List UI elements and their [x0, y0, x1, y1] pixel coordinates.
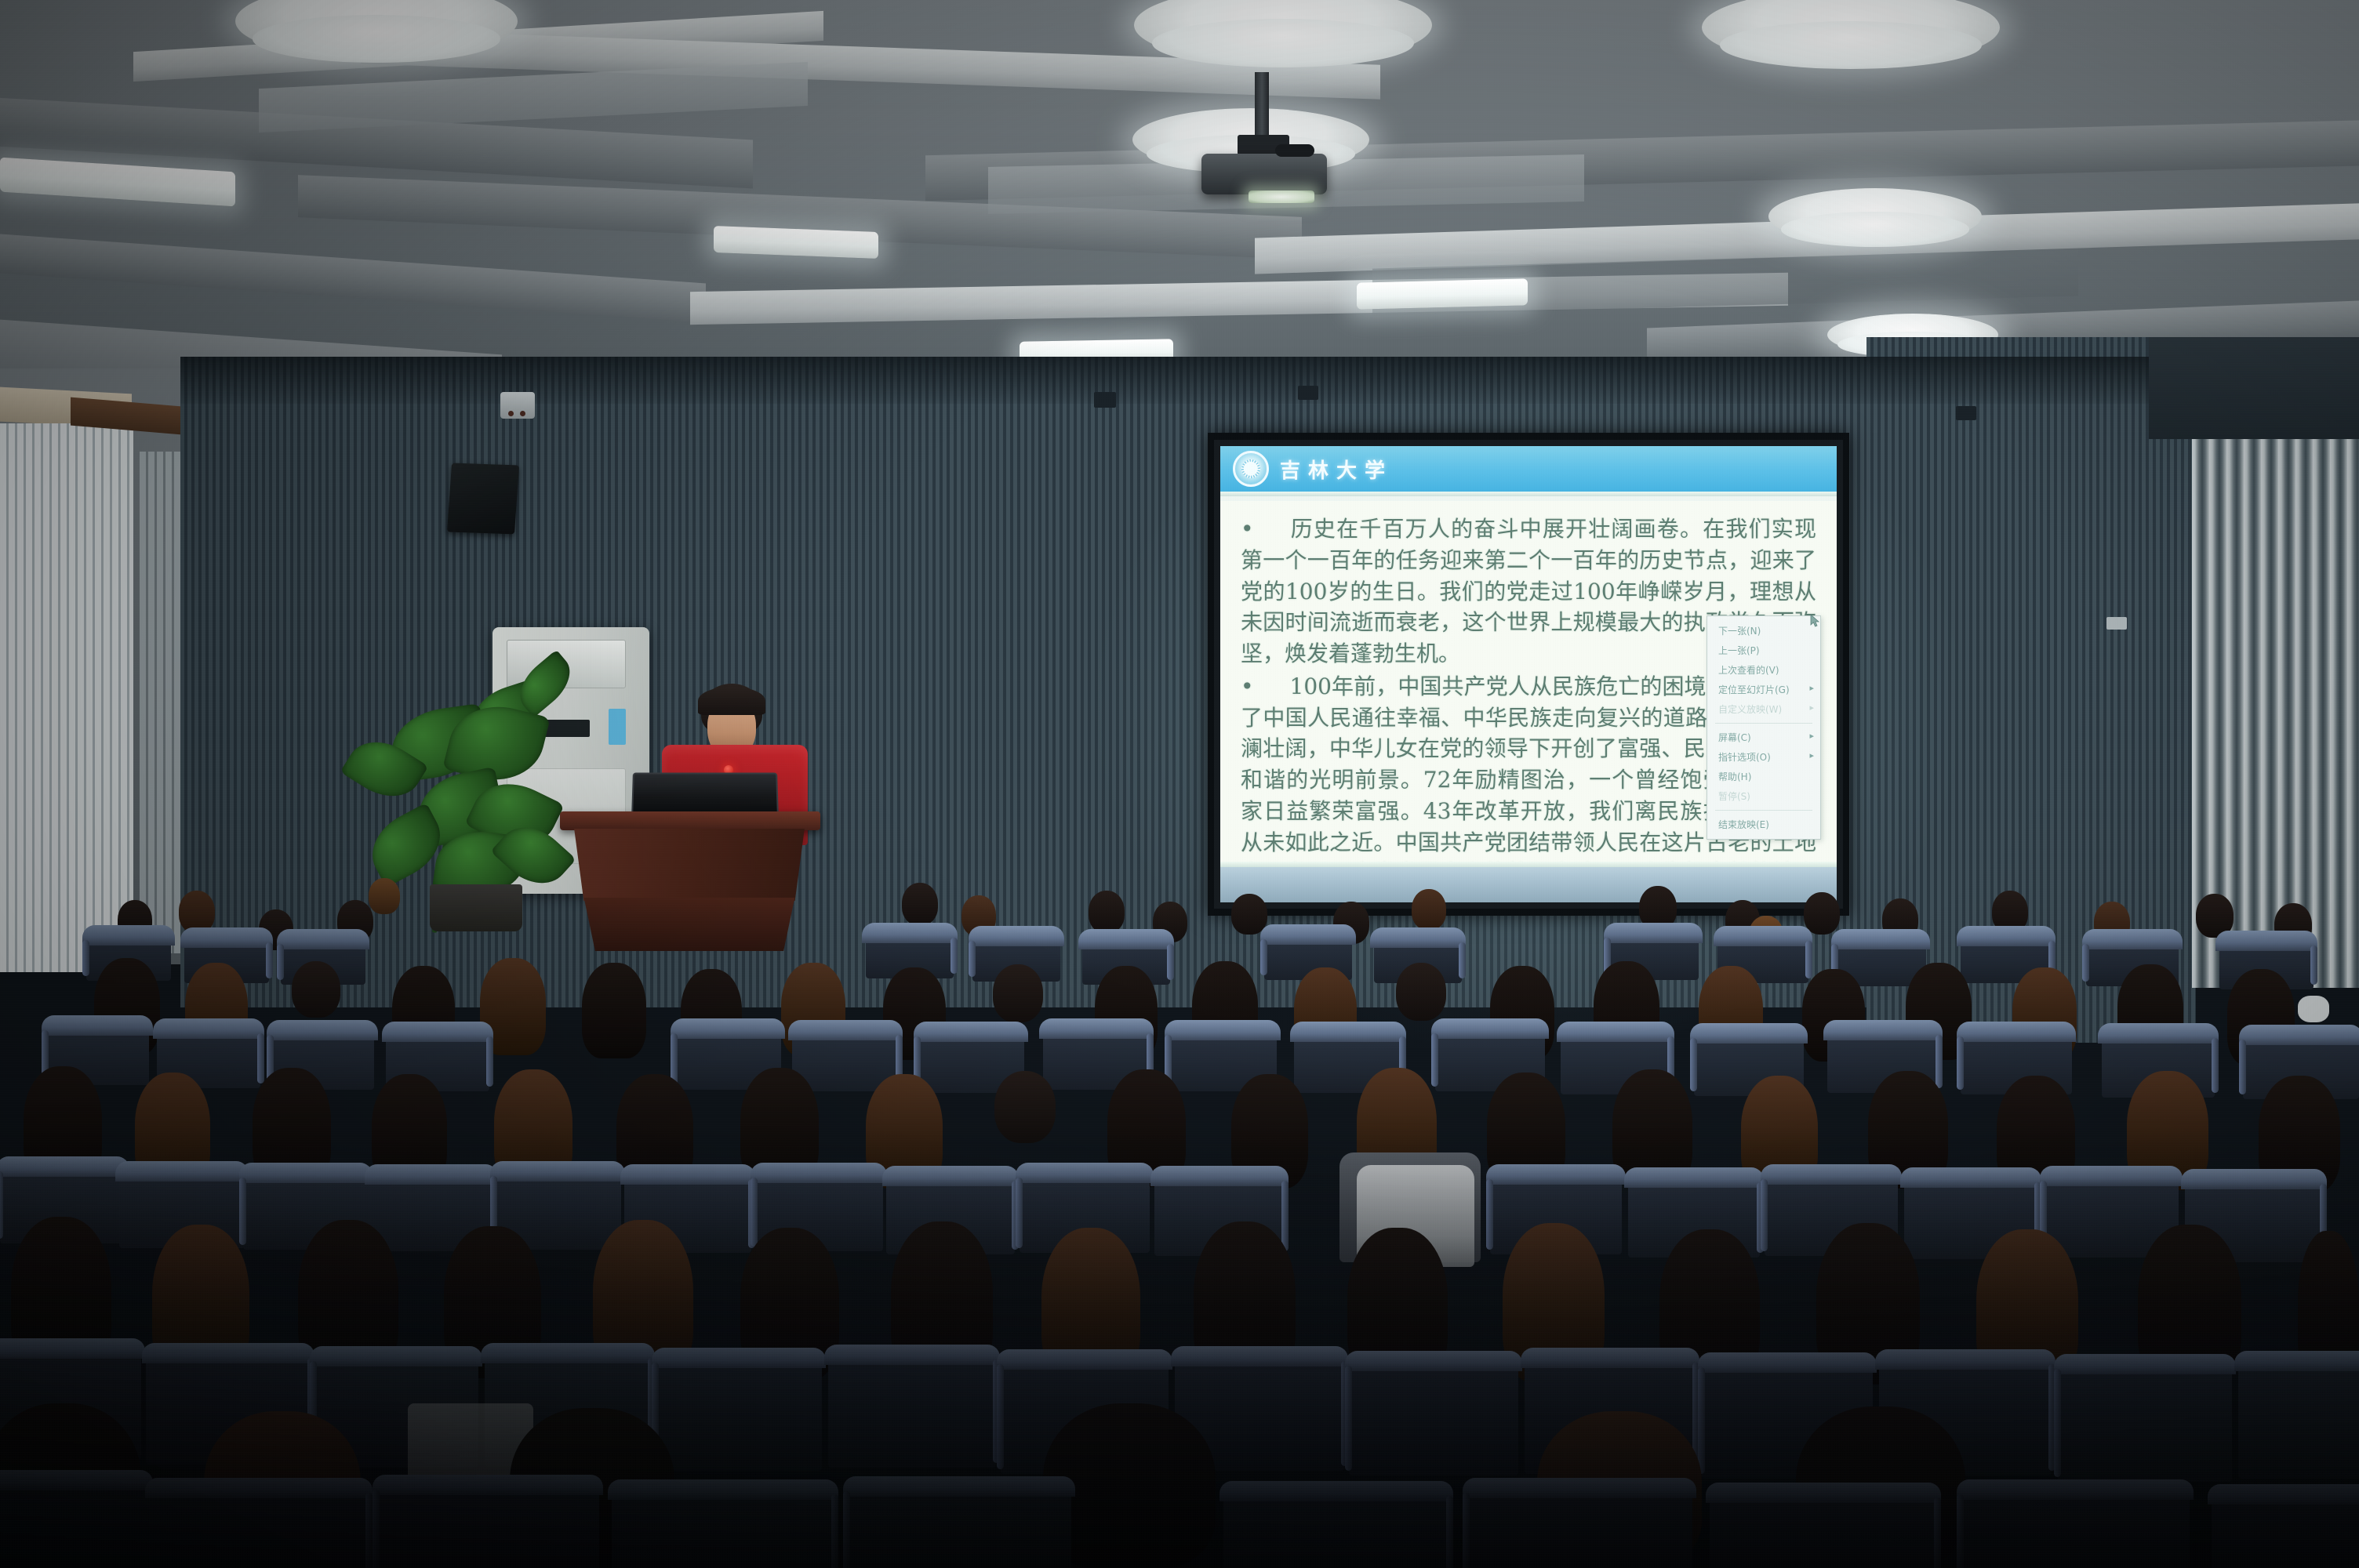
context-menu-item-previous[interactable]: 上一张(P): [1707, 641, 1820, 660]
university-name: 吉林大学: [1280, 455, 1393, 484]
laptop-screen: [631, 773, 779, 816]
mouse-cursor-icon: [1810, 614, 1821, 628]
light-switch[interactable]: [2106, 617, 2127, 630]
wall-speaker: [447, 463, 519, 534]
ceiling-light-panel: [0, 158, 235, 207]
ceiling-sensor: [500, 392, 535, 419]
projector: [1201, 154, 1327, 194]
ceiling-light-round: [1768, 188, 1982, 245]
context-menu-item-pointer-options[interactable]: 指针选项(O): [1707, 747, 1820, 767]
lecture-hall-photo: 吉林大学 •历史在千百万人的奋斗中展开壮阔画卷。在我们实现第一个一百年的任务迎来…: [0, 0, 2359, 1568]
slide-header: 吉林大学: [1220, 446, 1837, 492]
context-menu-item-custom-show: 自定义放映(W): [1707, 699, 1820, 719]
context-menu-item-pause: 暂停(S): [1707, 786, 1820, 806]
slideshow-context-menu[interactable]: 下一张(N) 上一张(P) 上次查看的(V) 定位至幻灯片(G) 自定义放映(W…: [1707, 615, 1821, 840]
context-menu-item-go-to-slide[interactable]: 定位至幻灯片(G): [1707, 680, 1820, 699]
ceiling-light-panel: [1357, 278, 1528, 309]
projector-lens: [1249, 191, 1314, 203]
window-blinds-left: [0, 423, 133, 972]
context-menu-item-screen[interactable]: 屏幕(C): [1707, 728, 1820, 747]
ceiling-light-round: [1134, 0, 1432, 64]
slide-bullet: •: [1241, 673, 1254, 699]
context-menu-item-help[interactable]: 帮助(H): [1707, 767, 1820, 786]
ceiling: [0, 0, 2359, 368]
projection-screen: 吉林大学 •历史在千百万人的奋斗中展开壮阔画卷。在我们实现第一个一百年的任务迎来…: [1208, 433, 1849, 916]
context-menu-item-last-viewed[interactable]: 上次查看的(V): [1707, 660, 1820, 680]
ceiling-light-round: [235, 0, 518, 60]
ceiling-light-round: [1702, 0, 2000, 66]
face-mask: [2298, 996, 2329, 1022]
slide-footer: [1220, 862, 1837, 902]
context-menu-item-end-show[interactable]: 结束放映(E): [1707, 815, 1820, 834]
slide-bullet: •: [1241, 516, 1254, 542]
university-emblem-icon: [1233, 451, 1269, 487]
context-menu-item-next[interactable]: 下一张(N): [1707, 621, 1820, 641]
presentation-slide: 吉林大学 •历史在千百万人的奋斗中展开壮阔画卷。在我们实现第一个一百年的任务迎来…: [1220, 446, 1837, 902]
